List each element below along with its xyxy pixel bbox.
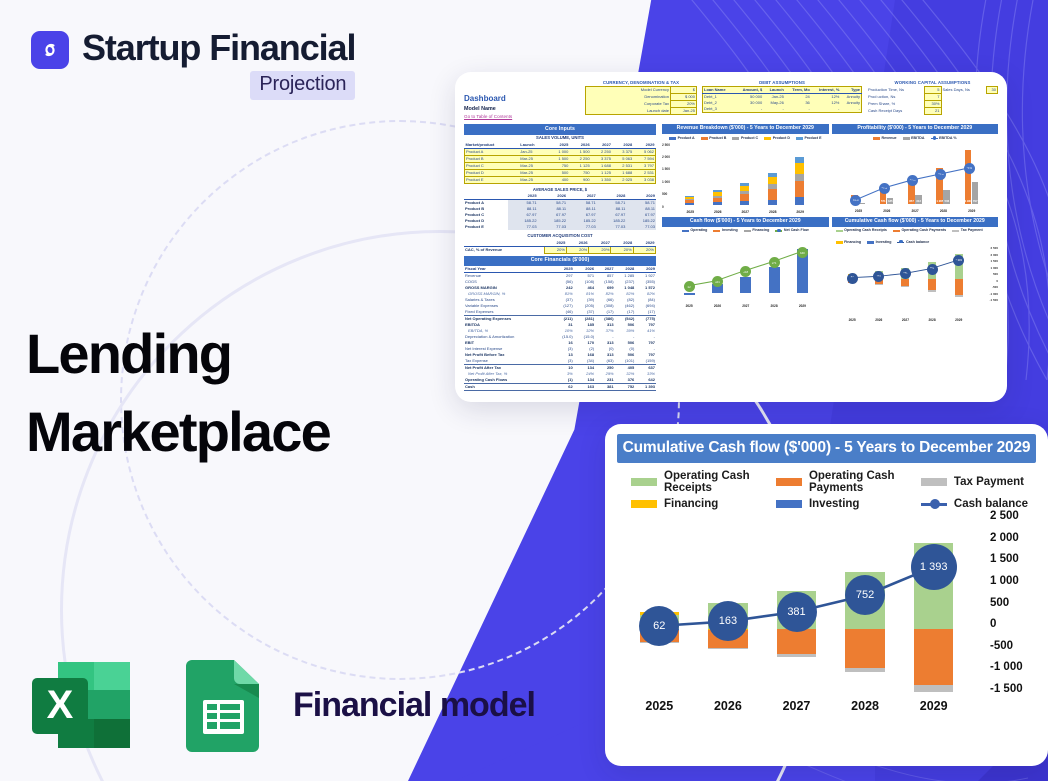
cell: 20% <box>544 246 566 253</box>
cell: 1 125 <box>591 170 612 177</box>
cell[interactable]: $ <box>671 87 697 94</box>
cell: Prem Share, % <box>867 101 925 108</box>
bar-segment <box>740 201 749 204</box>
mini-chart-title: Profitability ($'000) - 5 Years to Decem… <box>832 124 999 134</box>
legend-item[interactable]: Net Cash Flow <box>775 228 808 233</box>
cell[interactable]: 20% <box>671 101 697 108</box>
cell: 1 500 <box>548 156 569 163</box>
cell: 2 250 <box>569 156 590 163</box>
cell: 381 <box>595 384 615 391</box>
table-row[interactable]: Cash621633817521 393 <box>464 384 656 391</box>
cell: Launch date <box>586 108 671 115</box>
y-tick-label: 2 500 <box>990 510 1036 522</box>
legend-label: Financing <box>844 240 861 245</box>
legend-item-investing[interactable]: Investing <box>776 498 921 510</box>
cell: Production Time, Ns <box>867 87 925 94</box>
mini-chart-title: Cumulative Cash flow ($'000) - 5 Years t… <box>832 217 999 227</box>
cell: 1 000 <box>548 149 569 156</box>
table-row[interactable]: Debt_3 - - - - - <box>703 106 862 113</box>
legend-label: Product C <box>741 136 758 141</box>
cell: Debt_3 <box>703 106 735 113</box>
chart-y-axis: 2 5002 0001 5001 0005000-500-1 000-1 500 <box>972 510 1036 695</box>
legend-item[interactable]: Product B <box>701 136 727 141</box>
legend-label: Product E <box>805 136 822 141</box>
legend-label: Product A <box>678 136 695 141</box>
cash-balance-marker[interactable]: 381 <box>777 592 817 632</box>
cell: 77.03 <box>508 224 538 230</box>
x-tick-label: 2029 <box>789 210 811 215</box>
legend-swatch <box>893 230 900 233</box>
y-tick-label: 0 <box>990 618 1036 630</box>
cell: Mar-25 <box>519 177 548 184</box>
bar-segment <box>768 173 777 177</box>
legend-item[interactable]: Financing <box>836 240 862 245</box>
avg-price-title: AVERAGE SALES PRICE, $ <box>464 186 656 193</box>
cell: 2 531 <box>633 170 655 177</box>
cell: 20% <box>589 246 611 253</box>
cell: Product E <box>465 177 520 184</box>
infinity-loop-icon <box>38 38 62 62</box>
cell: 62 <box>552 384 573 391</box>
legend-swatch <box>669 137 676 140</box>
bar-segment <box>768 177 777 185</box>
legend-swatch <box>867 241 874 244</box>
legend-item[interactable]: Tax Payment <box>952 228 983 233</box>
cell: CAC, % of Revenue <box>464 246 544 253</box>
legend-swatch <box>701 137 708 140</box>
cell: Cash <box>464 384 552 391</box>
legend-label: Financing <box>752 228 769 233</box>
core-financials-table[interactable]: Fiscal Year 2025 2026 2027 2028 2029 Rev… <box>464 266 656 391</box>
x-tick-label: 2026 <box>707 210 729 215</box>
bar-segment <box>685 196 694 198</box>
y-tick-label: 1 500 <box>662 167 670 172</box>
x-tick-label: 2025 <box>679 210 701 215</box>
bar-segment <box>768 200 777 205</box>
cell: 1 393 <box>635 384 656 391</box>
x-tick-label: 2027 <box>734 210 756 215</box>
bar-segment <box>795 174 804 180</box>
cell: 77.03 <box>597 224 627 230</box>
x-tick-label: 2028 <box>831 699 900 723</box>
x-tick-label: 2028 <box>923 318 941 323</box>
legend-item[interactable]: Operating Cash Payments <box>893 228 946 233</box>
cell: 77.03 <box>567 224 597 230</box>
cell: 1 125 <box>569 163 590 170</box>
col: Launch <box>763 87 785 94</box>
cell: 163 <box>574 384 595 391</box>
legend-label: Product B <box>709 136 726 141</box>
cell[interactable]: 30% <box>925 101 941 108</box>
col: Type <box>840 87 861 94</box>
cell: 77.03 <box>538 224 568 230</box>
legend-label: Tax Payment <box>961 228 983 233</box>
trend-line <box>832 143 999 215</box>
x-tick-label: 2025 <box>625 699 694 723</box>
chart-legend: Operating Cash Receipts Operating Cash P… <box>631 470 1034 510</box>
table-row[interactable]: Product E 77.03 77.03 77.03 77.03 77.03 <box>464 224 656 230</box>
brand-subtitle-badge: Projection <box>250 71 355 100</box>
x-tick-label: 2027 <box>762 699 831 723</box>
cell[interactable]: 21 <box>925 108 941 115</box>
cell[interactable]: 30 <box>986 87 997 94</box>
mini-chart-title: Revenue Breakdown ($'000) - 5 Years to D… <box>662 124 829 134</box>
dashboard-screenshot-card[interactable]: Dashboard Model Name Go to Table of Cont… <box>455 72 1007 402</box>
poster-canvas: Startup Financial Projection Lending Mar… <box>0 0 1048 781</box>
col: Term, Mo <box>785 87 811 94</box>
legend-label: Investing <box>876 240 892 245</box>
legend-label: Cash balance <box>906 240 929 245</box>
legend-swatch <box>775 230 782 231</box>
bar-segment <box>713 202 722 204</box>
legend-item[interactable]: EBITDA % <box>931 136 957 141</box>
y-tick-label: 1 000 <box>990 575 1036 587</box>
table-row[interactable]: CAC, % of Revenue 20% 20% 20% 20% 20% <box>464 246 656 253</box>
y-tick-label: 500 <box>990 597 1036 609</box>
brand-title: Startup Financial <box>82 27 355 69</box>
cell: 2 025 <box>612 177 633 184</box>
legend-swatch <box>776 500 802 508</box>
cell: 20% <box>566 246 588 253</box>
legend-swatch <box>732 137 739 140</box>
legend-label: Operating Cash Receipts <box>664 470 776 494</box>
brand-lockup: Startup Financial Projection <box>31 27 355 100</box>
cell: - <box>763 106 785 113</box>
cell: 7 594 <box>633 156 655 163</box>
cell: 77.03 <box>626 224 656 230</box>
cell: - <box>785 106 811 113</box>
cell: 3 797 <box>633 163 655 170</box>
legend-label: Investing <box>722 228 738 233</box>
cell: - <box>840 106 861 113</box>
x-tick-label: 2029 <box>950 318 968 323</box>
legend-label: Net Cash Flow <box>784 228 809 233</box>
chart-title: Cumulative Cash flow ($'000) - 5 Years t… <box>617 434 1036 463</box>
cell: 1 350 <box>591 177 612 184</box>
bar-segment <box>685 200 694 203</box>
legend-item[interactable]: Financing <box>744 228 770 233</box>
footer-label: Financial model <box>293 686 535 725</box>
y-tick-label: 2 500 <box>662 143 670 148</box>
cell: 5 062 <box>633 149 655 156</box>
cell: 5 063 <box>612 156 633 163</box>
legend-item-financing[interactable]: Financing <box>631 498 776 510</box>
legend-swatch <box>836 230 843 233</box>
legend-swatch <box>873 137 880 140</box>
legend-swatch <box>744 230 751 233</box>
legend-item[interactable]: Product D <box>764 136 790 141</box>
microsoft-excel-icon: X <box>30 658 134 752</box>
legend-label: Operating Cash Receipts <box>844 228 887 233</box>
legend-label: Revenue <box>882 136 897 141</box>
page-title: Lending Marketplace <box>26 315 330 471</box>
cell: Mar-25 <box>519 163 548 170</box>
core-inputs-band: Core Inputs <box>464 124 656 135</box>
cell: 900 <box>569 177 590 184</box>
cell: Product E <box>464 224 508 230</box>
currency-assumptions-table[interactable]: Model Currency$ Denomination$ 000 Corpor… <box>585 86 697 115</box>
cell: 20% <box>633 246 655 253</box>
cell: Product D <box>465 170 520 177</box>
google-sheets-icon <box>186 658 261 752</box>
cell[interactable]: 5 <box>925 87 941 94</box>
average-sales-price-table[interactable]: 2025 2026 2027 2028 2029 Product A 58.71… <box>464 193 656 230</box>
cell: 750 <box>548 163 569 170</box>
legend-swatch <box>682 230 689 233</box>
bar-segment <box>713 190 722 192</box>
cell: 1 500 <box>569 149 590 156</box>
cell: 3 375 <box>591 156 612 163</box>
legend-swatch <box>897 242 904 243</box>
cell[interactable]: Jan-25 <box>671 108 697 115</box>
legend-item-cash-balance[interactable]: Cash balance <box>921 498 1034 510</box>
mini-chart-title: Cash flow ($'000) - 5 Years to December … <box>662 217 829 227</box>
chart-x-axis: 20252026202720282029 <box>625 699 968 723</box>
bar-segment <box>795 157 804 163</box>
cell: Product C <box>465 163 520 170</box>
dashboard-title: Dashboard <box>464 93 580 105</box>
legend-label: Product D <box>773 136 790 141</box>
cell: - <box>811 106 841 113</box>
x-tick-label: 2025 <box>843 318 861 323</box>
cell: 500 <box>548 170 569 177</box>
legend-swatch <box>952 230 959 233</box>
legend-item[interactable]: Cash balance <box>897 240 929 245</box>
cumulative-cash-flow-chart-card[interactable]: Cumulative Cash flow ($'000) - 5 Years t… <box>605 424 1048 766</box>
bar-segment <box>740 186 749 191</box>
legend-label: Tax Payment <box>954 476 1024 488</box>
page-title-line-1: Lending <box>26 315 330 393</box>
bar-segment <box>795 197 804 204</box>
legend-item[interactable]: EBITDA <box>903 136 925 141</box>
cell: - <box>735 106 764 113</box>
brand-logo-icon <box>31 31 69 69</box>
bar-segment <box>740 194 749 201</box>
bar-segment <box>713 198 722 203</box>
mini-chart-profitability[interactable]: Profitability ($'000) - 5 Years to Decem… <box>832 124 999 215</box>
legend-swatch <box>836 241 843 244</box>
bar-segment <box>768 189 777 200</box>
cell: 3 038 <box>633 177 655 184</box>
table-row[interactable]: Product D Mar-25 500 750 1 125 1 688 2 5… <box>465 170 656 177</box>
legend-label: Operating <box>690 228 707 233</box>
y-tick-label: 500 <box>662 192 667 197</box>
mini-chart-cumulative-cash-flow[interactable]: Cumulative Cash flow ($'000) - 5 Years t… <box>832 217 999 321</box>
cell: Corporate Tax <box>586 101 671 108</box>
legend-label: Investing <box>809 498 859 510</box>
svg-text:X: X <box>47 683 74 727</box>
bar-segment <box>713 192 722 195</box>
cell: Denomination <box>586 94 671 101</box>
y-tick-label: -1 500 <box>989 298 998 302</box>
cell: Prod uction, Ns <box>867 94 925 101</box>
cash-balance-marker[interactable]: 1 393 <box>911 544 957 590</box>
legend-swatch <box>631 478 657 486</box>
cell: Product A <box>465 149 520 156</box>
legend-label: Operating Cash Payments <box>901 228 946 233</box>
cell: 20% <box>611 246 633 253</box>
legend-item[interactable]: Operating Cash Receipts <box>836 228 887 233</box>
legend-swatch <box>764 137 771 140</box>
bar-segment <box>740 191 749 194</box>
bar-segment <box>740 183 749 186</box>
legend-label: Financing <box>664 498 718 510</box>
cell[interactable]: 7 <box>925 94 941 101</box>
model-name-label: Model Name <box>464 106 580 114</box>
y-tick-label: 2 000 <box>662 155 670 160</box>
x-tick-label: 2026 <box>694 699 763 723</box>
cell: 752 <box>615 384 636 391</box>
cell: 400 <box>548 177 569 184</box>
table-row[interactable]: Product C Mar-25 750 1 125 1 688 2 531 3… <box>465 163 656 170</box>
table-row[interactable]: Product A Jan-25 1 000 1 500 2 250 3 375… <box>465 149 656 156</box>
col: Amount, $ <box>735 87 764 94</box>
y-tick-label: 2 000 <box>990 532 1036 544</box>
chart-plot-area: 621633817521 393 <box>625 518 968 695</box>
cell: Product B <box>465 156 520 163</box>
legend-swatch-line <box>921 503 947 506</box>
legend-swatch <box>631 500 657 508</box>
trend-line <box>662 235 829 309</box>
legend-swatch <box>776 478 802 486</box>
bar-segment <box>685 196 694 197</box>
footer-format-row: X Financial model <box>30 658 535 752</box>
cell: 2 250 <box>591 149 612 156</box>
legend-item-operating-cash-receipts[interactable]: Operating Cash Receipts <box>631 470 776 494</box>
legend-swatch <box>796 137 803 140</box>
legend-item[interactable]: Investing <box>713 228 737 233</box>
mini-chart-revenue-breakdown[interactable]: Revenue Breakdown ($'000) - 5 Years to D… <box>662 124 829 215</box>
core-financials-band: Core Financials ($'000) <box>464 256 656 267</box>
legend-item-tax-payment[interactable]: Tax Payment <box>921 470 1034 494</box>
cell: Mar-25 <box>519 170 548 177</box>
cell: Mar-25 <box>519 156 548 163</box>
bar-segment <box>795 163 804 175</box>
cell: Jan-25 <box>519 149 548 156</box>
bar-segment <box>768 184 777 188</box>
legend-label: EBITDA <box>911 136 924 141</box>
bar-segment <box>685 199 694 200</box>
legend-label: Cash balance <box>954 498 1028 510</box>
debt-assumptions-table[interactable]: Loan Name Amount, $ Launch Term, Mo Inte… <box>702 86 862 113</box>
legend-item[interactable]: Product C <box>732 136 758 141</box>
legend-label: Operating Cash Payments <box>809 470 921 494</box>
legend-swatch <box>931 138 938 139</box>
legend-label: EBITDA % <box>939 136 956 141</box>
y-tick-label: 1 500 <box>990 553 1036 565</box>
legend-item[interactable]: Investing <box>867 240 891 245</box>
sales-volume-table[interactable]: Market/product Launch 2025 2026 2027 202… <box>464 142 656 184</box>
y-tick-label: 0 <box>662 205 664 210</box>
cell: 3 375 <box>612 149 633 156</box>
chart-plot: 621633817521 393 2 5002 0001 5001 000500… <box>617 518 1036 723</box>
legend-swatch <box>713 230 720 233</box>
cell: 750 <box>569 170 590 177</box>
table-row[interactable]: Product E Mar-25 400 900 1 350 2 025 3 0… <box>465 177 656 184</box>
legend-item-operating-cash-payments[interactable]: Operating Cash Payments <box>776 470 921 494</box>
legend-item[interactable]: Product A <box>669 136 695 141</box>
cell: Model Currency <box>586 87 671 94</box>
x-tick-label: 2029 <box>899 699 968 723</box>
col: Interest, % <box>811 87 841 94</box>
x-tick-label: 2028 <box>762 210 784 215</box>
legend-swatch <box>921 478 947 486</box>
y-tick-label: -500 <box>990 640 1036 652</box>
col: Loan Name <box>703 87 735 94</box>
cell: 2 531 <box>612 163 633 170</box>
legend-item[interactable]: Operating <box>682 228 708 233</box>
cell: 1 688 <box>591 163 612 170</box>
x-tick-label: 2027 <box>896 318 914 323</box>
y-tick-label: -1 000 <box>990 661 1036 673</box>
cell: Cash Receipt Days <box>867 108 925 115</box>
cell[interactable]: $ 000 <box>671 94 697 101</box>
bar-segment <box>685 203 694 204</box>
legend-swatch <box>903 137 910 140</box>
y-tick-label: 1 000 <box>662 180 670 185</box>
page-title-line-2: Marketplace <box>26 393 330 471</box>
x-tick-label: 2026 <box>870 318 888 323</box>
cac-table[interactable]: 2025 2026 2027 2028 2029 CAC, % of Reven… <box>464 240 656 254</box>
bar-segment <box>795 181 804 198</box>
cell: 1 688 <box>612 170 633 177</box>
mini-chart-cash-flow[interactable]: Cash flow ($'000) - 5 Years to December … <box>662 217 829 321</box>
working-capital-table[interactable]: Production Time, Ns5Sales Days, Ns30 Pro… <box>867 86 998 115</box>
cash-balance-marker[interactable]: 62 <box>639 606 679 646</box>
bar-segment <box>713 196 722 198</box>
cell: Sales Days, Ns <box>941 87 986 94</box>
cac-title: CUSTOMER ACQUISITION COST <box>464 232 656 239</box>
cash-balance-line <box>832 246 999 298</box>
y-tick-label: -1 500 <box>990 683 1036 695</box>
sales-volume-title: SALES VOLUME, UNITS <box>464 135 656 142</box>
legend-item[interactable]: Product E <box>796 136 822 141</box>
table-row[interactable]: Product B Mar-25 1 500 2 250 3 375 5 063… <box>465 156 656 163</box>
legend-item[interactable]: Revenue <box>873 136 897 141</box>
table-of-contents-link[interactable]: Go to Table of Contents <box>464 114 580 121</box>
